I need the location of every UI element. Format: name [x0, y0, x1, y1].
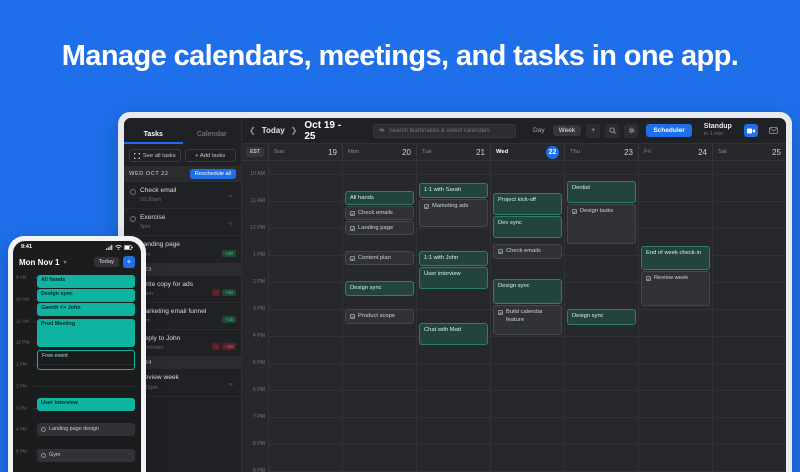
event-title: Dentist: [572, 185, 590, 191]
event-title: Design sync: [41, 291, 73, 297]
day-header-wed[interactable]: Wed 22: [490, 144, 564, 160]
view-toggle: Day Week: [527, 125, 581, 136]
phone-event-block[interactable]: Design sync: [37, 289, 135, 302]
event-title: Design sync: [572, 313, 604, 319]
phone-event-block[interactable]: All hands: [37, 275, 135, 288]
phone-day-grid[interactable]: 9 AM10 AM11 AM12 PM1 PM2 PM3 PM4 PM5 PMA…: [13, 273, 141, 469]
search-placeholder: Search teammates & select calendars: [389, 128, 490, 134]
plus-icon[interactable]: +: [586, 124, 600, 138]
event-title: End of week check-in: [646, 250, 701, 256]
event-title: Chat with Matt: [424, 327, 461, 333]
phone-header: Mon Nov 1 ▾ Today +: [13, 253, 141, 273]
task-group-header: WED OCT 22 Reschedule all: [124, 166, 241, 182]
calendar-event-block[interactable]: Project kick-off: [493, 193, 562, 215]
reschedule-all-button[interactable]: Reschedule all: [190, 169, 236, 179]
task-badge: ↷: [225, 381, 236, 390]
tab-tasks[interactable]: Tasks: [124, 131, 183, 144]
calendar-task-block[interactable]: Content plan: [345, 251, 414, 265]
search-icon[interactable]: [605, 124, 619, 138]
phone-mockup: 9:41 Mon Nov 1 ▾ Today + 9 AM10 AM11 AM1…: [8, 236, 146, 472]
calendar-pane: EST Sun 19 Mon 20 Tue 21 Wed: [242, 144, 786, 472]
calendar-event-block[interactable]: All hands: [345, 191, 414, 205]
calendar-event-block[interactable]: 1:1 with Sarah: [419, 183, 488, 198]
day-number-label: 24: [698, 148, 707, 157]
phone-event-block[interactable]: Prod Meeting: [37, 319, 135, 347]
calendar-event-block[interactable]: 1:1 with John: [419, 251, 488, 266]
tasks-actions: See all tasks + Add tasks: [124, 144, 241, 166]
status-time: 9:41: [21, 244, 32, 250]
phone-time-label: 3 PM: [16, 405, 27, 410]
day-number-label: 21: [476, 148, 485, 157]
task-badge: ↷: [225, 193, 236, 202]
checkbox-icon[interactable]: [424, 204, 429, 209]
checkbox-icon[interactable]: [350, 314, 355, 319]
task-time: 4pm: [140, 252, 218, 258]
checkbox-icon[interactable]: [350, 256, 355, 261]
task-badge: –: [212, 343, 221, 350]
day-number-label: 19: [328, 148, 337, 157]
search-input[interactable]: Search teammates & select calendars: [373, 124, 516, 138]
day-number-label-today: 22: [546, 146, 559, 159]
task-time: 3pm: [140, 224, 221, 230]
day-header-fri[interactable]: Fri 24: [638, 144, 712, 160]
chevron-right-icon[interactable]: ❯: [290, 126, 299, 135]
day-columns[interactable]: All handsCheck emailsLanding pageContent…: [268, 161, 786, 472]
chevron-down-icon[interactable]: ▾: [63, 259, 66, 266]
task-time: 11am: [140, 291, 208, 297]
day-of-week-label: Thu: [570, 149, 580, 155]
day-of-week-label: Sun: [274, 149, 284, 155]
calendar-task-block[interactable]: Check emails: [345, 206, 414, 220]
calendar-task-block[interactable]: Build calendar feature: [493, 305, 562, 335]
task-badge: +15: [222, 316, 236, 323]
phone-today-button[interactable]: Today: [94, 257, 119, 267]
calendar-task-block[interactable]: Check emails: [493, 244, 562, 259]
see-all-tasks-label: See all tasks: [143, 153, 176, 159]
phone-time-label: 11 AM: [16, 318, 29, 323]
expand-icon: [134, 153, 140, 159]
tab-calendar[interactable]: Calendar: [183, 131, 242, 144]
event-title: Landing page: [358, 225, 393, 233]
event-title: Dev sync: [498, 220, 522, 226]
calendar-event-block[interactable]: Dentist: [567, 181, 636, 203]
task-time: 1:15pm: [140, 385, 221, 391]
task-checkbox[interactable]: [130, 216, 136, 222]
time-label: 12 PM: [250, 225, 265, 231]
standup-title: Standup: [704, 123, 732, 132]
day-of-week-label: Wed: [496, 149, 508, 155]
event-title: Landing page design: [49, 426, 99, 433]
task-row[interactable]: Check email 10:30am ↷: [124, 182, 241, 209]
today-button[interactable]: Today: [262, 126, 285, 135]
calendar-toolbar: ❮ Today ❯ Oct 19 - 25 Search teammates &…: [242, 118, 786, 144]
phone-time-label: 2 PM: [16, 383, 27, 388]
phone-time-label: 10 AM: [16, 296, 29, 301]
phone-task-block[interactable]: Gym: [37, 449, 135, 462]
day-column-sat[interactable]: [712, 161, 786, 472]
task-time: 10:30am: [140, 197, 221, 203]
calendar-event-block[interactable]: Design sync: [345, 281, 414, 296]
day-column-wed[interactable]: Project kick-offDev syncCheck emailsDesi…: [490, 161, 564, 472]
timezone-cell: EST: [242, 144, 268, 160]
day-of-week-label: Tue: [422, 149, 432, 155]
calendar-task-block[interactable]: Landing page: [345, 221, 414, 235]
calendar-task-block[interactable]: Marketing ads: [419, 199, 488, 227]
checkbox-icon[interactable]: [572, 209, 577, 214]
add-tasks-button[interactable]: + Add tasks: [185, 149, 237, 162]
cellular-icon: [106, 245, 113, 250]
day-column-mon[interactable]: All handsCheck emailsLanding pageContent…: [342, 161, 416, 472]
calendar-task-block[interactable]: Review week: [641, 271, 710, 306]
task-time: Reminder: [140, 345, 208, 351]
timezone-badge[interactable]: EST: [246, 147, 264, 157]
date-range-label: Oct 19 - 25: [304, 120, 351, 142]
day-header-mon[interactable]: Mon 20: [342, 144, 416, 160]
day-header-thu[interactable]: Thu 23: [564, 144, 638, 160]
view-day-button[interactable]: Day: [527, 125, 551, 136]
task-badge: –: [212, 289, 221, 296]
people-icon: [379, 128, 385, 134]
tablet-mockup: Tasks Calendar ❮ Today ❯ Oct 19 - 25 Sea…: [118, 112, 792, 472]
time-label: 9 PM: [253, 468, 265, 472]
phone-time-label: 12 PM: [16, 340, 29, 345]
calendar-grid[interactable]: 10 AM11 AM12 PM1 PM2 PM3 PM4 PM5 PM6 PM7…: [242, 161, 786, 472]
time-label: 10 AM: [250, 171, 265, 177]
calendar-event-block[interactable]: Dev sync: [493, 216, 562, 238]
day-column-tue[interactable]: 1:1 with SarahMarketing ads1:1 with John…: [416, 161, 490, 472]
day-column-thu[interactable]: DentistDesign tasksDesign sync: [564, 161, 638, 472]
calendar-task-block[interactable]: Product scope: [345, 309, 414, 324]
video-camera-icon[interactable]: [744, 124, 758, 137]
task-row[interactable]: Exercise 3pm ↷: [124, 209, 241, 236]
task-time: 2pm: [140, 318, 218, 324]
time-label: 3 PM: [253, 306, 265, 312]
phone-date-label[interactable]: Mon Nov 1: [19, 258, 59, 267]
day-of-week-label: Mon: [348, 149, 359, 155]
event-title: Free event: [42, 353, 68, 359]
task-badge: +30: [222, 250, 236, 257]
gear-icon[interactable]: [624, 124, 638, 138]
event-title: All hands: [41, 277, 65, 283]
task-name: Exercise: [140, 214, 221, 222]
phone-time-label: 1 PM: [16, 362, 27, 367]
wifi-icon: [115, 245, 122, 250]
checkbox-icon[interactable]: [350, 226, 355, 231]
event-title: Check emails: [358, 210, 393, 218]
task-name: Reply to John: [140, 335, 208, 343]
calendar-task-block[interactable]: Design tasks: [567, 204, 636, 244]
day-column-sun[interactable]: [268, 161, 342, 472]
event-title: Prod Meeting: [41, 321, 75, 327]
event-title: Design tasks: [580, 208, 613, 216]
view-week-button[interactable]: Week: [553, 125, 582, 136]
event-title: Design sync: [498, 283, 530, 289]
tablet-body: See all tasks + Add tasks WED OCT 22 Res…: [124, 144, 786, 472]
event-title: Content plan: [358, 255, 391, 263]
event-title: All hands: [350, 195, 374, 201]
phone-event-block[interactable]: Free event: [37, 350, 135, 370]
day-number-label: 23: [624, 148, 633, 157]
scheduler-button[interactable]: Scheduler: [646, 124, 691, 137]
task-checkbox[interactable]: [130, 189, 136, 195]
tab-bar: Tasks Calendar: [124, 118, 242, 144]
checkbox-icon[interactable]: [498, 310, 503, 315]
checkbox-icon[interactable]: [498, 249, 503, 254]
phone-time-label: 9 AM: [16, 275, 26, 280]
standup-subtitle: in 1 min: [704, 131, 732, 138]
time-label: 7 PM: [253, 414, 265, 420]
time-label: 6 PM: [253, 387, 265, 393]
checkbox-icon[interactable]: [646, 276, 651, 281]
task-name: Landing page: [140, 241, 218, 249]
event-title: Review week: [654, 275, 688, 283]
checkbox-icon[interactable]: [350, 211, 355, 216]
event-title: 1:1 with John: [424, 255, 458, 261]
day-column-fri[interactable]: End of week check-inReview week: [638, 161, 712, 472]
day-of-week-label: Sat: [718, 149, 727, 155]
phone-event-block[interactable]: User interview: [37, 398, 135, 411]
tablet-screen: Tasks Calendar ❮ Today ❯ Oct 19 - 25 Sea…: [124, 118, 786, 472]
event-title: User interview: [424, 271, 461, 277]
task-group-label: WED OCT 22: [129, 171, 168, 177]
day-of-week-label: Fri: [644, 149, 651, 155]
tablet-top-bar: Tasks Calendar ❮ Today ❯ Oct 19 - 25 Sea…: [124, 118, 786, 144]
calendar-event-block[interactable]: User interview: [419, 267, 488, 289]
calendar-day-headers: EST Sun 19 Mon 20 Tue 21 Wed: [242, 144, 786, 161]
task-name: Marketing email funnel: [140, 308, 218, 316]
calendar-event-block[interactable]: Design sync: [493, 279, 562, 304]
time-label: 11 AM: [251, 198, 265, 204]
checkbox-icon[interactable]: [41, 453, 46, 458]
calendar-event-block[interactable]: Chat with Matt: [419, 323, 488, 345]
battery-icon: [124, 245, 133, 250]
phone-task-block[interactable]: Landing page design: [37, 423, 135, 436]
task-badge: ↷: [225, 220, 236, 229]
phone-notch: [53, 241, 101, 250]
phone-time-label: 4 PM: [16, 427, 27, 432]
event-title: Build calendar feature: [506, 309, 557, 324]
event-title: Check emails: [506, 248, 541, 256]
day-number-label: 25: [772, 148, 781, 157]
time-axis: 10 AM11 AM12 PM1 PM2 PM3 PM4 PM5 PM6 PM7…: [242, 161, 268, 472]
calendar-event-block[interactable]: Design sync: [567, 309, 636, 325]
event-title: User interview: [41, 400, 78, 406]
standup-meeting-info: Standup in 1 min: [704, 123, 732, 139]
task-name: Check email: [140, 187, 221, 195]
page-title: Manage calendars, meetings, and tasks in…: [0, 40, 800, 73]
event-title: Marketing ads: [432, 203, 468, 211]
event-title: Design sync: [350, 285, 382, 291]
day-number-label: 20: [402, 148, 411, 157]
day-header-sat[interactable]: Sat 25: [712, 144, 786, 160]
phone-add-button[interactable]: +: [123, 256, 135, 268]
time-label: 2 PM: [253, 279, 265, 285]
time-label: 4 PM: [253, 333, 265, 339]
event-title: Gym: [49, 452, 60, 459]
event-title: Product scope: [358, 313, 395, 321]
event-title: Project kick-off: [498, 197, 536, 203]
time-label: 1 PM: [253, 252, 265, 258]
event-title: 1:1 with Sarah: [424, 187, 461, 193]
time-label: 8 PM: [253, 441, 265, 447]
time-label: 5 PM: [253, 360, 265, 366]
calendar-event-block[interactable]: End of week check-in: [641, 246, 710, 270]
day-header-sun[interactable]: Sun 19: [268, 144, 342, 160]
chevron-left-icon[interactable]: ❮: [248, 126, 257, 135]
phone-hour-gridline: [34, 386, 137, 387]
phone-time-label: 5 PM: [16, 449, 27, 454]
checkbox-icon[interactable]: [41, 427, 46, 432]
phone-screen: 9:41 Mon Nov 1 ▾ Today + 9 AM10 AM11 AM1…: [13, 241, 141, 472]
phone-event-block[interactable]: Gareth <> John: [37, 303, 135, 316]
task-name: Review week: [140, 374, 221, 382]
task-name: Write copy for ads: [140, 281, 208, 289]
see-all-tasks-button[interactable]: See all tasks: [129, 149, 181, 162]
day-header-tue[interactable]: Tue 21: [416, 144, 490, 160]
task-badge: +30: [222, 289, 236, 296]
event-title: Gareth <> John: [41, 305, 81, 311]
envelope-icon[interactable]: [767, 124, 780, 137]
task-badge: –30: [222, 343, 236, 350]
